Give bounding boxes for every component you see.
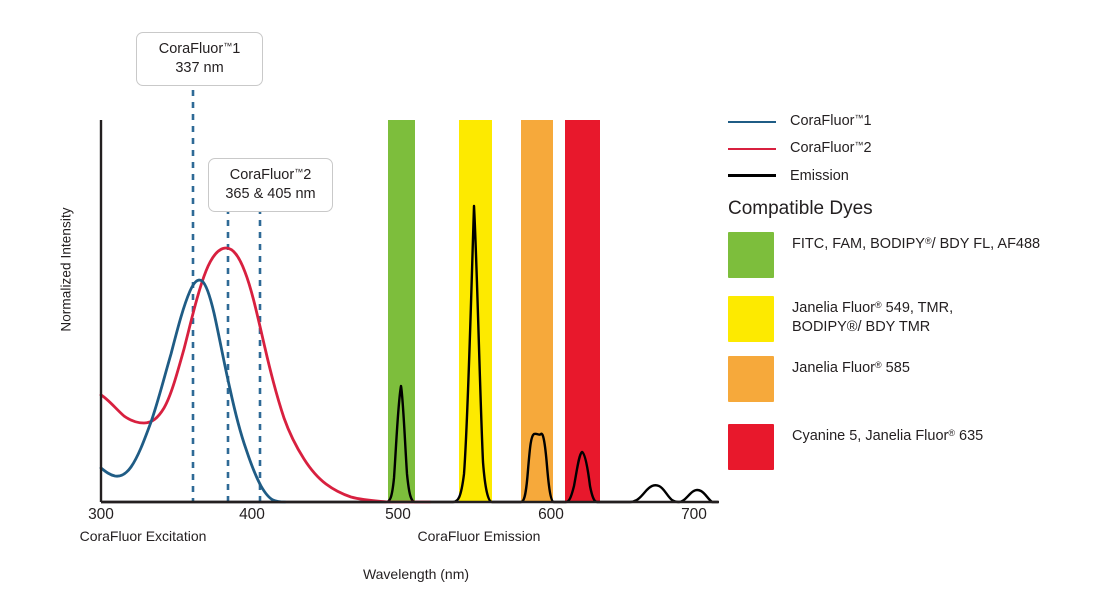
band-green xyxy=(388,120,415,502)
x-tick-700: 700 xyxy=(664,506,724,524)
x-tick-500: 500 xyxy=(368,506,428,524)
dye-swatch-orange xyxy=(728,356,774,402)
callout2-name: CoraFluor xyxy=(230,167,294,183)
legend-line-corafluor2 xyxy=(728,148,776,150)
legend-label-emission: Emission xyxy=(790,168,849,184)
callout2-tm: ™ xyxy=(294,167,303,177)
dye-item-yellow: Janelia Fluor® 549, TMR,BODIPY®/ BDY TMR xyxy=(728,296,1110,342)
dye-label-orange: Janelia Fluor® 585 xyxy=(792,356,910,378)
callout2-value: 365 & 405 nm xyxy=(221,185,320,204)
section-label-excitation: CoraFluor Excitation xyxy=(33,528,253,544)
callout1-index: 1 xyxy=(232,41,240,57)
legend-label-corafluor2: CoraFluor™2 xyxy=(790,140,872,156)
legend-item-corafluor1: CoraFluor™1 xyxy=(728,108,1110,135)
band-yellow xyxy=(459,120,492,502)
band-red xyxy=(565,120,600,502)
x-tick-400: 400 xyxy=(222,506,282,524)
callout2-index: 2 xyxy=(303,167,311,183)
corafluor2-curve xyxy=(101,248,430,502)
x-tick-300: 300 xyxy=(71,506,131,524)
x-tick-600: 600 xyxy=(521,506,581,524)
callout-corafluor2: CoraFluor™2 365 & 405 nm xyxy=(208,158,333,212)
figure-root: Normalized Intensity 300 400 500 600 700… xyxy=(0,0,1110,612)
legend-label-corafluor1: CoraFluor™1 xyxy=(790,113,872,129)
legend-line-corafluor1 xyxy=(728,121,776,123)
callout1-name: CoraFluor xyxy=(159,41,223,57)
dye-item-green: FITC, FAM, BODIPY®/ BDY FL, AF488 xyxy=(728,232,1110,278)
y-axis-title: Normalized Intensity xyxy=(59,170,74,370)
callout-corafluor1: CoraFluor™1 337 nm xyxy=(136,32,263,86)
callout1-value: 337 nm xyxy=(149,59,250,78)
series-legend: CoraFluor™1 CoraFluor™2 Emission xyxy=(728,108,1110,189)
dye-item-red: Cyanine 5, Janelia Fluor® 635 xyxy=(728,424,1110,470)
dye-item-orange: Janelia Fluor® 585 xyxy=(728,356,1110,402)
legend-line-emission xyxy=(728,174,776,177)
dye-label-red: Cyanine 5, Janelia Fluor® 635 xyxy=(792,424,983,446)
plot-area: Normalized Intensity 300 400 500 600 700… xyxy=(0,0,730,612)
x-axis-title: Wavelength (nm) xyxy=(266,566,566,582)
band-group xyxy=(388,120,600,502)
compatible-dyes-list: FITC, FAM, BODIPY®/ BDY FL, AF488 Janeli… xyxy=(728,232,1110,488)
dye-swatch-red xyxy=(728,424,774,470)
section-label-emission: CoraFluor Emission xyxy=(369,528,589,544)
dye-swatch-green xyxy=(728,232,774,278)
legend-item-corafluor2: CoraFluor™2 xyxy=(728,135,1110,162)
dye-label-yellow: Janelia Fluor® 549, TMR,BODIPY®/ BDY TMR xyxy=(792,296,953,338)
dye-label-green: FITC, FAM, BODIPY®/ BDY FL, AF488 xyxy=(792,232,1040,254)
legend-item-emission: Emission xyxy=(728,162,1110,189)
band-orange xyxy=(521,120,553,502)
callout1-tm: ™ xyxy=(223,41,232,51)
dye-swatch-yellow xyxy=(728,296,774,342)
compatible-dyes-title: Compatible Dyes xyxy=(728,198,873,220)
